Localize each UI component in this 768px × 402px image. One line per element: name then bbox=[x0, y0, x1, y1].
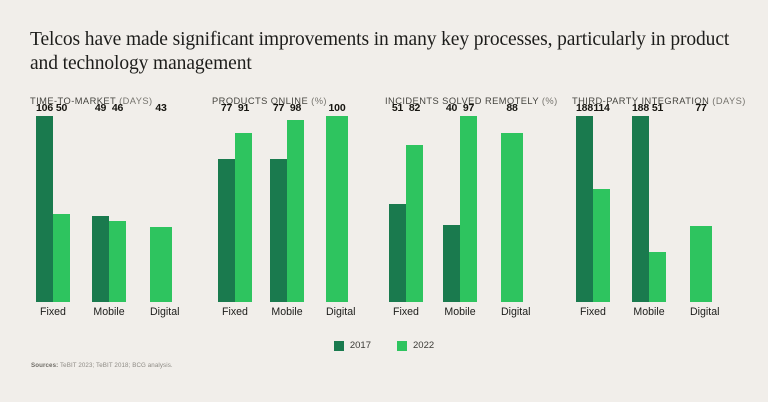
bar-group: 43Digital bbox=[150, 116, 172, 302]
bar-2022-mobile[interactable] bbox=[287, 120, 304, 302]
plot-area: 188114Fixed18851Mobile77Digital bbox=[572, 116, 747, 302]
bar-wrap: 43 bbox=[150, 116, 172, 302]
sources-note: Sources: TeBIT 2023; TeBIT 2018; BCG ana… bbox=[31, 362, 173, 369]
bar-value-label: 50 bbox=[56, 102, 67, 114]
bar-2022-fixed[interactable] bbox=[235, 133, 252, 302]
panel-title-unit: (DAYS) bbox=[712, 96, 746, 106]
bars: 10650 bbox=[36, 116, 70, 302]
bar-wrap: 77 bbox=[218, 116, 235, 302]
bar-2017-fixed[interactable] bbox=[389, 204, 406, 302]
bar-value-label: 40 bbox=[446, 102, 457, 114]
bar-wrap: 51 bbox=[389, 116, 406, 302]
bar-wrap: 77 bbox=[690, 116, 712, 302]
category-label-fixed: Fixed bbox=[576, 306, 610, 318]
category-label-digital: Digital bbox=[501, 306, 523, 318]
bar-wrap: 188 bbox=[632, 116, 649, 302]
category-label-fixed: Fixed bbox=[218, 306, 252, 318]
bar-2017-fixed[interactable] bbox=[576, 116, 593, 302]
chart-panel: TIME-TO-MARKET (DAYS)10650Fixed4946Mobil… bbox=[30, 96, 195, 326]
bar-value-label: 91 bbox=[238, 102, 249, 114]
bar-2017-fixed[interactable] bbox=[218, 159, 235, 302]
bar-group: 188114Fixed bbox=[576, 116, 610, 302]
bar-wrap: 100 bbox=[326, 116, 348, 302]
bars: 77 bbox=[690, 116, 712, 302]
category-label-fixed: Fixed bbox=[389, 306, 423, 318]
plot-area: 5182Fixed4097Mobile88Digital bbox=[385, 116, 560, 302]
bar-value-label: 77 bbox=[695, 102, 706, 114]
bar-group: 4097Mobile bbox=[443, 116, 477, 302]
category-label-fixed: Fixed bbox=[36, 306, 70, 318]
bar-wrap: 88 bbox=[501, 116, 523, 302]
bar-value-label: 188 bbox=[632, 102, 649, 114]
legend-label: 2017 bbox=[350, 340, 371, 351]
bar-2022-digital[interactable] bbox=[150, 227, 172, 302]
category-label-mobile: Mobile bbox=[270, 306, 304, 318]
bar-value-label: 82 bbox=[409, 102, 420, 114]
bar-2017-mobile[interactable] bbox=[270, 159, 287, 302]
category-label-mobile: Mobile bbox=[443, 306, 477, 318]
legend-label: 2022 bbox=[413, 340, 434, 351]
category-label-mobile: Mobile bbox=[632, 306, 666, 318]
category-label-mobile: Mobile bbox=[92, 306, 126, 318]
legend-item-2022[interactable]: 2022 bbox=[397, 340, 434, 351]
bars: 5182 bbox=[389, 116, 423, 302]
bar-wrap: 188 bbox=[576, 116, 593, 302]
bar-wrap: 77 bbox=[270, 116, 287, 302]
bar-wrap: 50 bbox=[53, 116, 70, 302]
legend-swatch-icon bbox=[334, 341, 344, 351]
bar-2022-mobile[interactable] bbox=[460, 116, 477, 302]
chart-figure: Telcos have made significant improvement… bbox=[0, 0, 768, 402]
page-title: Telcos have made significant improvement… bbox=[30, 28, 740, 76]
panel-title-unit: (%) bbox=[311, 96, 327, 106]
bar-group: 7798Mobile bbox=[270, 116, 304, 302]
bar-value-label: 97 bbox=[463, 102, 474, 114]
bar-value-label: 98 bbox=[290, 102, 301, 114]
category-label-digital: Digital bbox=[690, 306, 712, 318]
bar-value-label: 46 bbox=[112, 102, 123, 114]
bar-wrap: 106 bbox=[36, 116, 53, 302]
bar-group: 88Digital bbox=[501, 116, 523, 302]
sources-text: TeBIT 2023; TeBIT 2018; BCG analysis. bbox=[58, 362, 172, 369]
bar-value-label: 114 bbox=[593, 102, 609, 114]
chart-panel: PRODUCTS ONLINE (%)7791Fixed7798Mobile10… bbox=[212, 96, 377, 326]
chart-panel: INCIDENTS SOLVED REMOTELY (%)5182Fixed40… bbox=[385, 96, 560, 326]
bar-value-label: 51 bbox=[652, 102, 663, 114]
bar-wrap: 51 bbox=[649, 116, 666, 302]
bar-wrap: 40 bbox=[443, 116, 460, 302]
plot-area: 10650Fixed4946Mobile43Digital bbox=[30, 116, 195, 302]
bar-value-label: 77 bbox=[221, 102, 232, 114]
panel-title-unit: (%) bbox=[542, 96, 558, 106]
bars: 7798 bbox=[270, 116, 304, 302]
bar-2022-mobile[interactable] bbox=[109, 221, 126, 302]
bars: 88 bbox=[501, 116, 523, 302]
category-label-digital: Digital bbox=[150, 306, 172, 318]
legend-swatch-icon bbox=[397, 341, 407, 351]
bar-value-label: 49 bbox=[95, 102, 106, 114]
bar-group: 7791Fixed bbox=[218, 116, 252, 302]
bar-wrap: 49 bbox=[92, 116, 109, 302]
bar-2022-fixed[interactable] bbox=[406, 145, 423, 302]
bar-group: 18851Mobile bbox=[632, 116, 666, 302]
bars: 188114 bbox=[576, 116, 610, 302]
bars: 43 bbox=[150, 116, 172, 302]
bar-wrap: 91 bbox=[235, 116, 252, 302]
bar-value-label: 77 bbox=[273, 102, 284, 114]
bars: 4946 bbox=[92, 116, 126, 302]
bar-2022-fixed[interactable] bbox=[53, 214, 70, 302]
bar-wrap: 97 bbox=[460, 116, 477, 302]
bar-value-label: 100 bbox=[329, 102, 346, 114]
category-label-digital: Digital bbox=[326, 306, 348, 318]
bar-wrap: 114 bbox=[593, 116, 610, 302]
bar-value-label: 106 bbox=[36, 102, 53, 114]
bar-2017-mobile[interactable] bbox=[443, 225, 460, 302]
bars: 7791 bbox=[218, 116, 252, 302]
panel-container: TIME-TO-MARKET (DAYS)10650Fixed4946Mobil… bbox=[0, 96, 768, 326]
bar-2022-fixed[interactable] bbox=[593, 189, 610, 302]
bar-value-label: 88 bbox=[506, 102, 517, 114]
bar-value-label: 43 bbox=[155, 102, 166, 114]
bars: 4097 bbox=[443, 116, 477, 302]
legend-item-2017[interactable]: 2017 bbox=[334, 340, 371, 351]
bar-group: 4946Mobile bbox=[92, 116, 126, 302]
bar-2017-fixed[interactable] bbox=[36, 116, 53, 302]
bar-group: 100Digital bbox=[326, 116, 348, 302]
bar-group: 77Digital bbox=[690, 116, 712, 302]
chart-legend: 20172022 bbox=[0, 340, 768, 351]
bar-2022-digital[interactable] bbox=[501, 133, 523, 302]
bar-wrap: 82 bbox=[406, 116, 423, 302]
bar-wrap: 98 bbox=[287, 116, 304, 302]
bar-wrap: 46 bbox=[109, 116, 126, 302]
panel-title-unit: (DAYS) bbox=[119, 96, 153, 106]
bar-2022-mobile[interactable] bbox=[649, 252, 666, 302]
bar-group: 10650Fixed bbox=[36, 116, 70, 302]
bars: 18851 bbox=[632, 116, 666, 302]
bar-2017-mobile[interactable] bbox=[632, 116, 649, 302]
bar-group: 5182Fixed bbox=[389, 116, 423, 302]
bars: 100 bbox=[326, 116, 348, 302]
bar-2022-digital[interactable] bbox=[326, 116, 348, 302]
bar-value-label: 188 bbox=[576, 102, 593, 114]
chart-panel: THIRD-PARTY INTEGRATION (DAYS)188114Fixe… bbox=[572, 96, 747, 326]
bar-value-label: 51 bbox=[392, 102, 403, 114]
bar-2022-digital[interactable] bbox=[690, 226, 712, 302]
sources-label: Sources: bbox=[31, 362, 58, 369]
plot-area: 7791Fixed7798Mobile100Digital bbox=[212, 116, 377, 302]
bar-2017-mobile[interactable] bbox=[92, 216, 109, 302]
